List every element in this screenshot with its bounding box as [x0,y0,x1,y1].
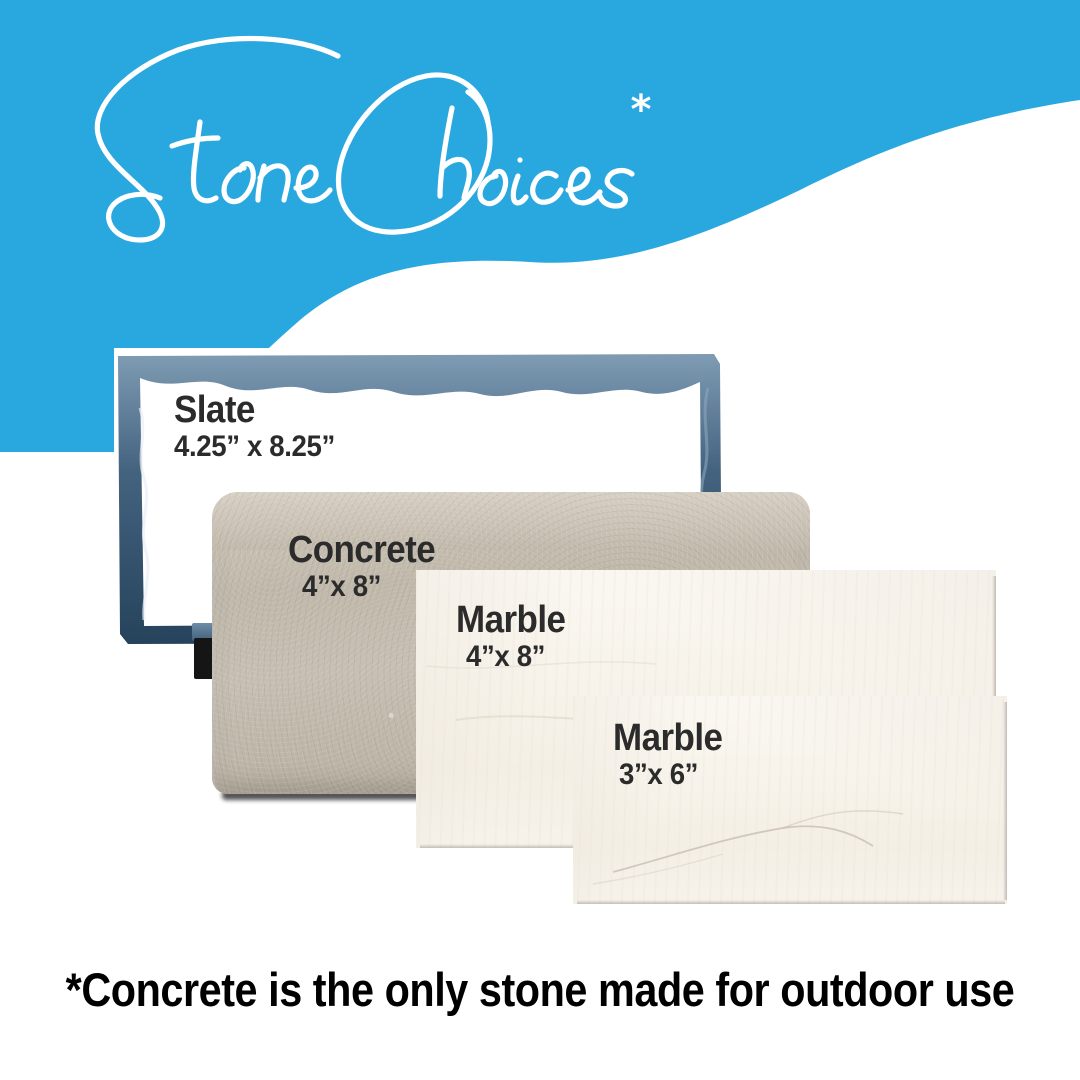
marble-small-size: 3”x 6” [619,758,723,792]
marble-large-name: Marble [456,600,565,640]
page-title: * [48,18,688,228]
concrete-name: Concrete [288,530,435,570]
marble-small-label: Marble 3”x 6” [613,718,732,792]
title-asterisk: * [621,90,661,130]
footnote: *Concrete is the only stone made for out… [0,962,1080,1018]
marble-small-right-edge [1003,702,1007,900]
stone-sample-marble-small: Marble 3”x 6” [573,696,1007,904]
marble-large-label: Marble 4”x 8” [456,600,575,674]
slate-size: 4.25” x 8.25” [174,430,335,464]
slate-label: Slate 4.25” x 8.25” [174,390,349,464]
marble-small-bottom-edge [577,900,1005,904]
footnote-text: *Concrete is the only stone made for out… [66,962,1015,1018]
marble-large-size: 4”x 8” [466,640,566,674]
marble-small-name: Marble [613,718,722,758]
stone-choices-infographic: * Slate [0,0,1080,1080]
slate-name: Slate [174,390,335,430]
